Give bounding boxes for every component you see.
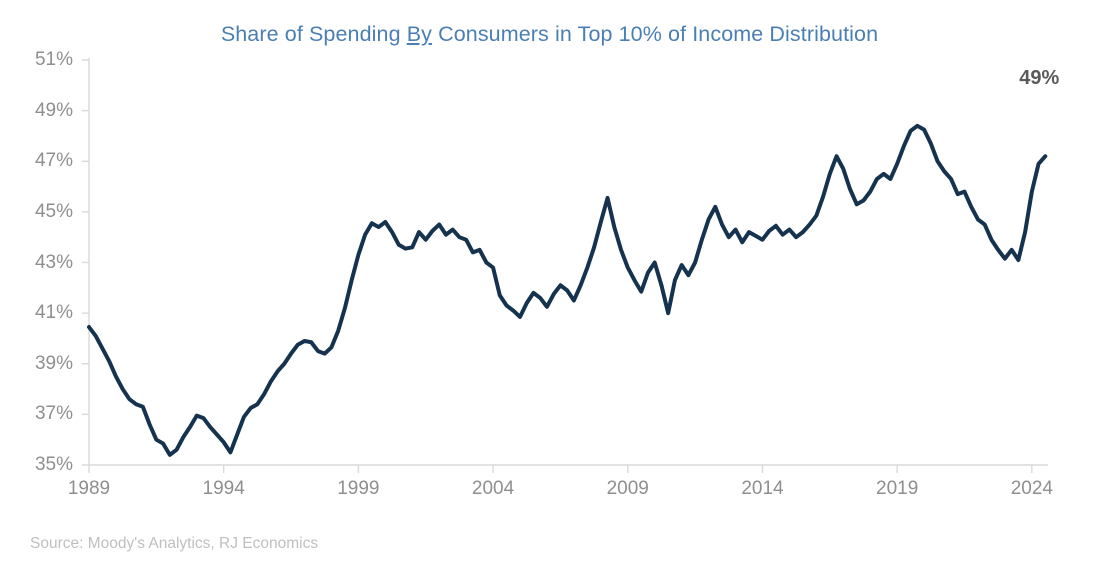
axis-lines <box>89 58 1048 465</box>
series-end-value-label: 49% <box>1019 67 1059 90</box>
line-chart-plot <box>0 0 1099 584</box>
chart-container: Share of Spending By Consumers in Top 10… <box>0 0 1099 584</box>
axis-tick-marks <box>82 60 1032 473</box>
data-series-line <box>89 126 1045 455</box>
source-note: Source: Moody's Analytics, RJ Economics <box>30 535 318 553</box>
